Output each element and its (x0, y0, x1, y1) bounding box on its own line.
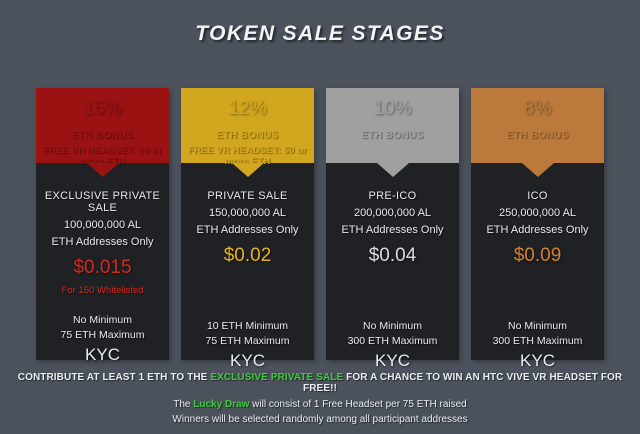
promo-footer: CONTRIBUTE AT LEAST 1 ETH TO THE EXCLUSI… (0, 372, 640, 425)
token-supply: 100,000,000 AL (42, 219, 163, 231)
page-title: TOKEN SALE STAGES (0, 22, 640, 46)
kyc-label: KYC (332, 351, 453, 371)
footer-line-1-suffix: FOR A CHANCE TO WIN AN HTC VIVE VR HEADS… (303, 372, 622, 394)
contribution-limits: No Minimum 300 ETH Maximum KYC (332, 319, 453, 371)
footer-line-2-suffix: will consist of 1 Free Headset per 75 ET… (249, 399, 466, 410)
card-body: PRIVATE SALE 150,000,000 AL ETH Addresse… (181, 163, 314, 381)
footer-line-1-prefix: CONTRIBUTE AT LEAST 1 ETH TO THE (18, 372, 211, 383)
whitelist-note (187, 273, 308, 285)
footer-line-1: CONTRIBUTE AT LEAST 1 ETH TO THE EXCLUSI… (0, 372, 640, 394)
bonus-percent: 15% (36, 97, 169, 121)
maximum-limit: 75 ETH Maximum (187, 334, 308, 349)
contribution-limits: No Minimum 75 ETH Maximum KYC (42, 313, 163, 365)
maximum-limit: 300 ETH Maximum (477, 334, 598, 349)
addresses-note: ETH Addresses Only (42, 236, 163, 248)
minimum-limit: 10 ETH Minimum (187, 319, 308, 334)
token-supply: 150,000,000 AL (187, 207, 308, 219)
kyc-label: KYC (187, 351, 308, 371)
stage-name: PRE-ICO (332, 190, 453, 202)
bonus-label: ETH BONUS (181, 130, 314, 141)
pricing-card-ico[interactable]: 8% ETH BONUS ICO 250,000,000 AL ETH Addr… (471, 88, 604, 360)
pricing-card-exclusive-private-sale[interactable]: 15% ETH BONUS FREE VR HEADSET: 50 or mor… (36, 88, 169, 360)
maximum-limit: 300 ETH Maximum (332, 334, 453, 349)
kyc-label: KYC (42, 345, 163, 365)
card-body: PRE-ICO 200,000,000 AL ETH Addresses Onl… (326, 163, 459, 381)
whitelist-note (332, 273, 453, 285)
token-price: $0.015 (42, 257, 163, 279)
bonus-label: ETH BONUS (326, 130, 459, 141)
pricing-card-pre-ico[interactable]: 10% ETH BONUS PRE-ICO 200,000,000 AL ETH… (326, 88, 459, 360)
card-header: 10% ETH BONUS (326, 88, 459, 163)
token-price: $0.02 (187, 245, 308, 267)
contribution-limits: No Minimum 300 ETH Maximum KYC (477, 319, 598, 371)
addresses-note: ETH Addresses Only (332, 224, 453, 236)
bonus-label: ETH BONUS (36, 130, 169, 141)
pricing-cards-container: 15% ETH BONUS FREE VR HEADSET: 50 or mor… (36, 88, 604, 360)
footer-line-2: The Lucky Draw will consist of 1 Free He… (0, 399, 640, 410)
card-body: ICO 250,000,000 AL ETH Addresses Only $0… (471, 163, 604, 381)
token-sale-stages-page: TOKEN SALE STAGES 15% ETH BONUS FREE VR … (0, 0, 640, 434)
triangle-notch-icon (232, 163, 264, 177)
token-supply: 250,000,000 AL (477, 207, 598, 219)
bonus-percent: 10% (326, 97, 459, 121)
footer-line-2-prefix: The (173, 399, 193, 410)
pricing-card-private-sale[interactable]: 12% ETH BONUS FREE VR HEADSET: 50 or mor… (181, 88, 314, 360)
card-header: 8% ETH BONUS (471, 88, 604, 163)
addresses-note: ETH Addresses Only (187, 224, 308, 236)
triangle-notch-icon (87, 163, 119, 177)
bonus-percent: 12% (181, 97, 314, 121)
addresses-note: ETH Addresses Only (477, 224, 598, 236)
card-body: EXCLUSIVE PRIVATE SALE 100,000,000 AL ET… (36, 163, 169, 375)
footer-line-3: Winners will be selected randomly among … (0, 414, 640, 425)
stage-name: ICO (477, 190, 598, 202)
whitelist-note: For 150 Whitelisted (42, 285, 163, 297)
triangle-notch-icon (377, 163, 409, 177)
whitelist-note (477, 273, 598, 285)
minimum-limit: No Minimum (42, 313, 163, 328)
footer-line-1-highlight: EXCLUSIVE PRIVATE SALE (210, 372, 343, 383)
bonus-percent: 8% (471, 97, 604, 121)
bonus-label: ETH BONUS (471, 130, 604, 141)
stage-name: EXCLUSIVE PRIVATE SALE (42, 190, 163, 214)
kyc-label: KYC (477, 351, 598, 371)
stage-name: PRIVATE SALE (187, 190, 308, 202)
token-price: $0.09 (477, 245, 598, 267)
maximum-limit: 75 ETH Maximum (42, 328, 163, 343)
token-supply: 200,000,000 AL (332, 207, 453, 219)
card-header: 12% ETH BONUS FREE VR HEADSET: 50 or mor… (181, 88, 314, 163)
token-price: $0.04 (332, 245, 453, 267)
minimum-limit: No Minimum (332, 319, 453, 334)
contribution-limits: 10 ETH Minimum 75 ETH Maximum KYC (187, 319, 308, 371)
triangle-notch-icon (522, 163, 554, 177)
minimum-limit: No Minimum (477, 319, 598, 334)
card-header: 15% ETH BONUS FREE VR HEADSET: 50 or mor… (36, 88, 169, 163)
footer-line-2-highlight: Lucky Draw (193, 399, 249, 410)
